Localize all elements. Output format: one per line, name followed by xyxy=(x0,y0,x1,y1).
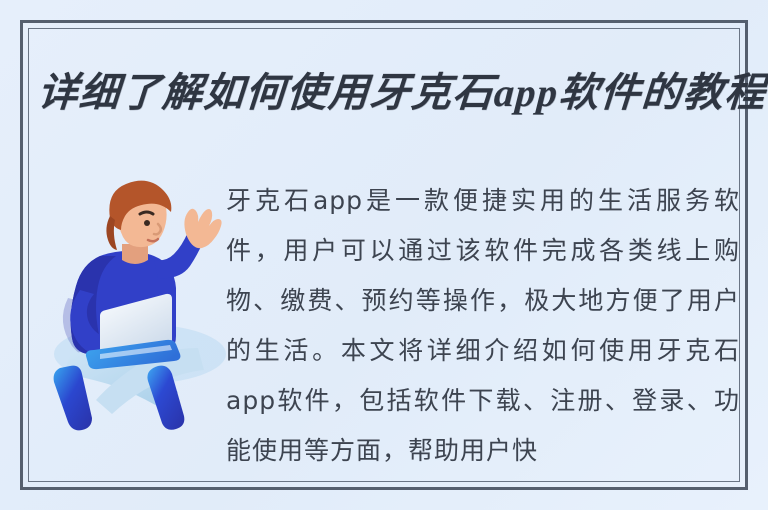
article-body-text: 牙克石app是一款便捷实用的生活服务软件，用户可以通过该软件完成各类线上购物、缴… xyxy=(226,176,740,476)
neck xyxy=(122,244,148,264)
eye xyxy=(144,220,150,226)
page-title: 详细了解如何使用牙克石app软件的教程 xyxy=(36,58,740,120)
poster-canvas: 详细了解如何使用牙克石app软件的教程 xyxy=(0,0,768,510)
person-with-laptop-illustration xyxy=(48,178,228,440)
